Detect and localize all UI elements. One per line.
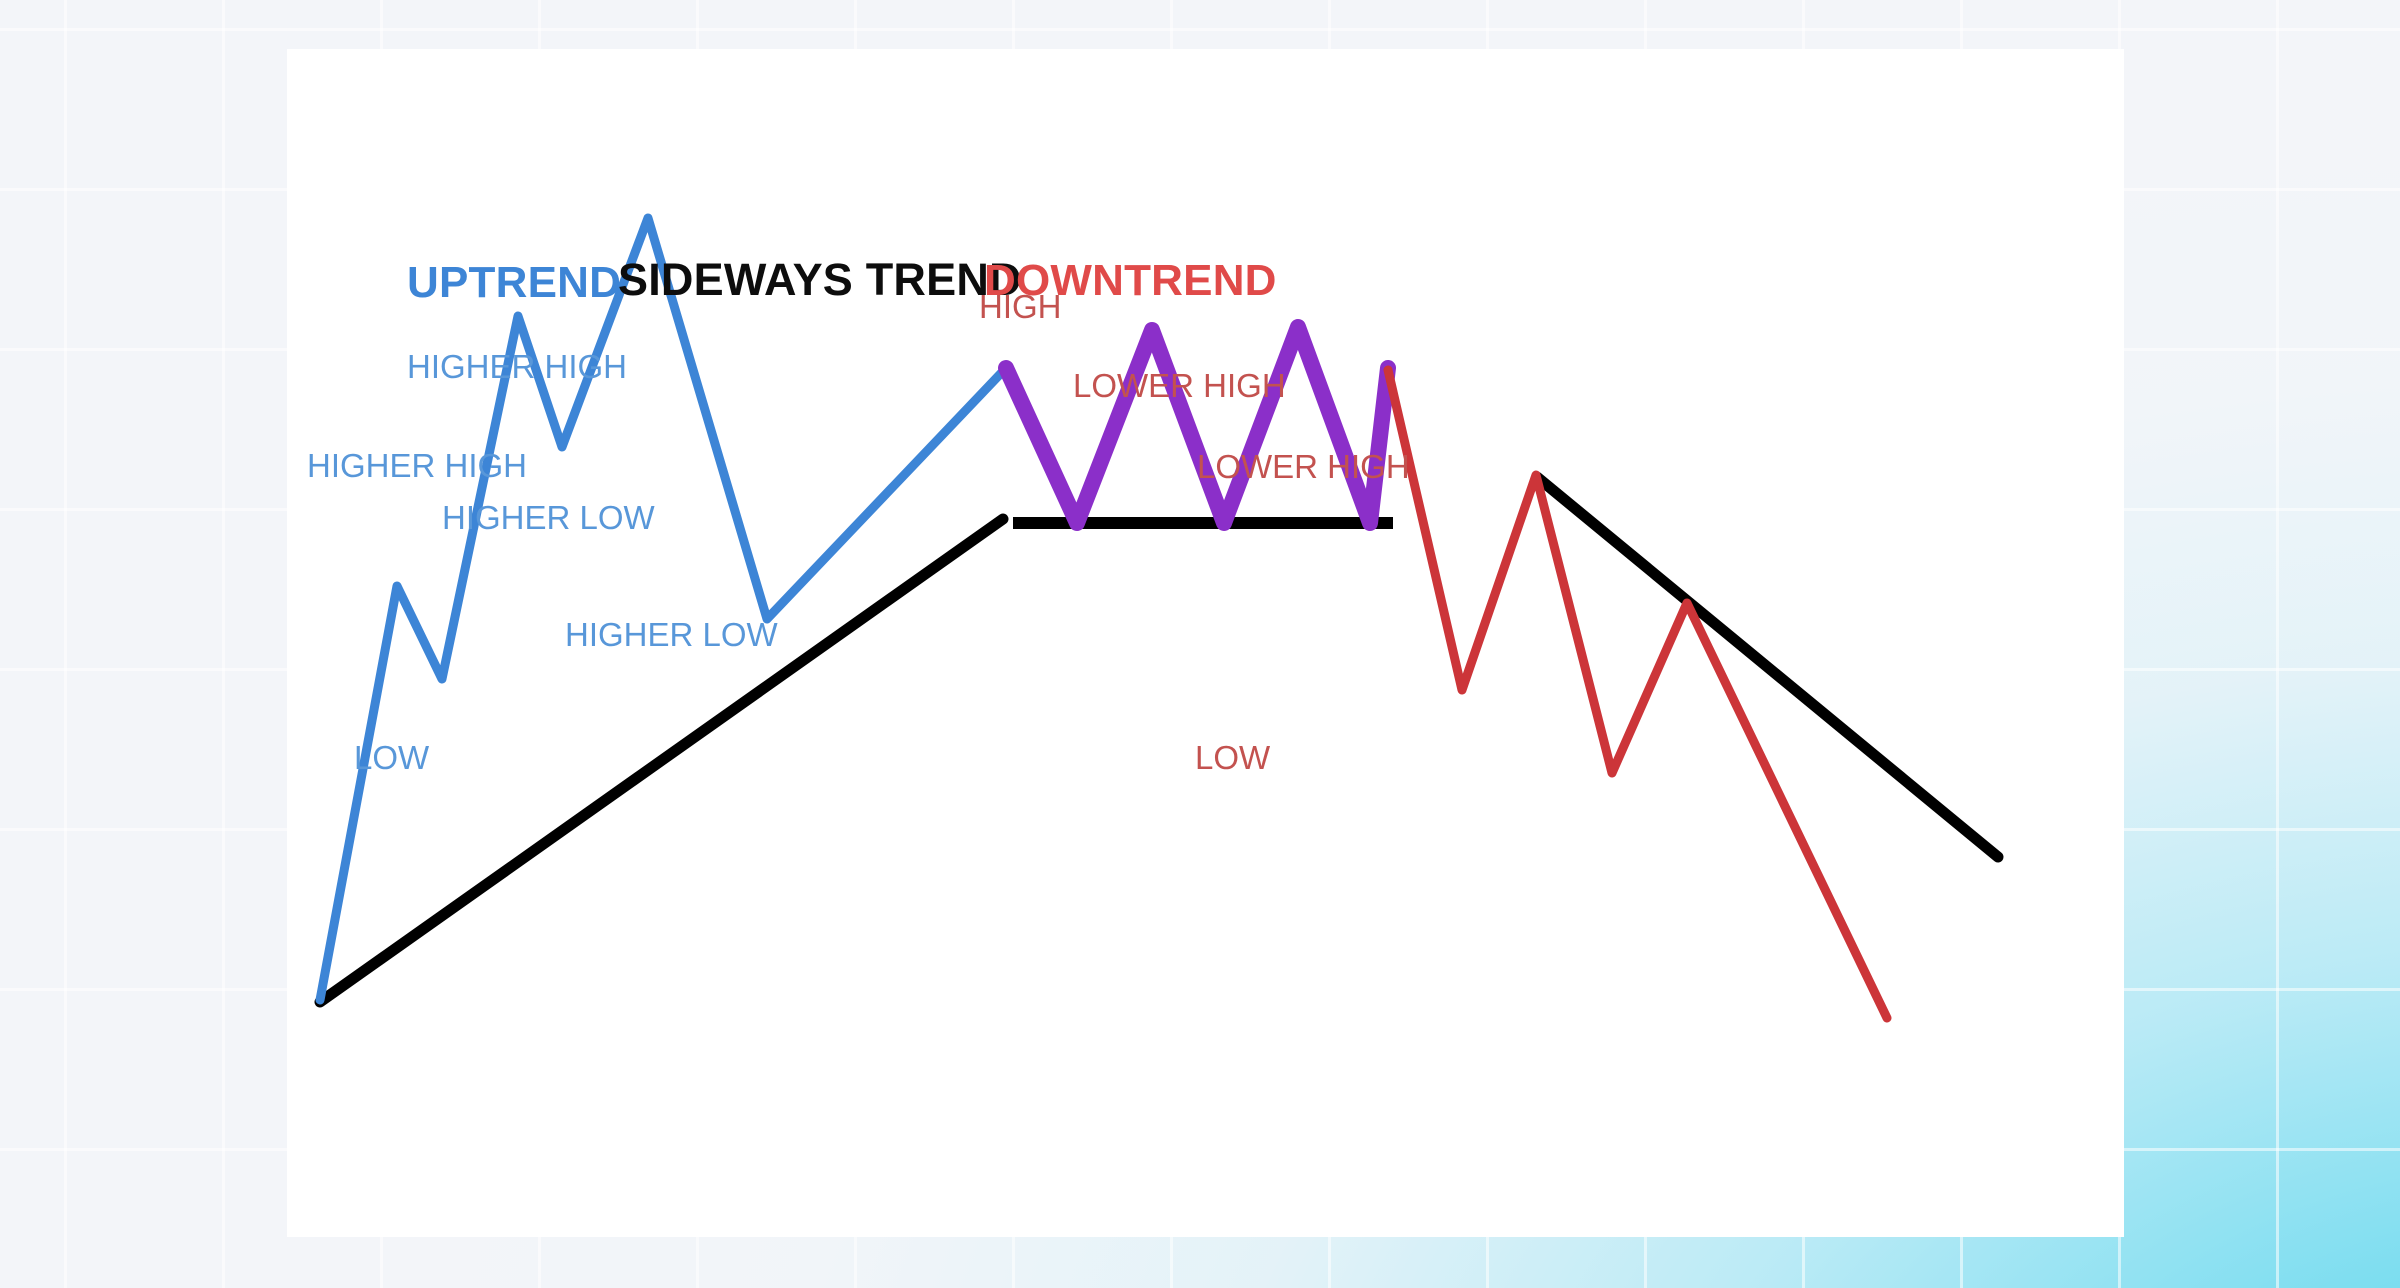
header-uptrend: UPTREND — [407, 261, 621, 305]
annotation-lower-high-upper: LOWER HIGH — [1073, 369, 1286, 402]
trend-chart-graphic — [287, 49, 2124, 1237]
chart-card: UPTREND SIDEWAYS TREND DOWNTREND HIGHER … — [287, 49, 2124, 1237]
annotation-higher-low-lower: HIGHER LOW — [442, 501, 655, 534]
header-sideways-trend: SIDEWAYS TREND — [618, 257, 1022, 302]
sideways-price-line — [1006, 327, 1388, 523]
annotation-low-left: LOW — [354, 741, 429, 774]
annotation-high-right: HIGH — [979, 290, 1062, 323]
annotation-higher-high-upper: HIGHER HIGH — [407, 350, 627, 383]
annotation-lower-high-lower: LOWER HIGH — [1197, 450, 1410, 483]
annotation-higher-high-lower: HIGHER HIGH — [307, 449, 527, 482]
uptrend-price-line — [320, 218, 1006, 1000]
annotation-higher-low-upper: HIGHER LOW — [565, 618, 778, 651]
downtrend-resistance-trendline — [1537, 477, 1998, 857]
screenshot-canvas: UPTREND SIDEWAYS TREND DOWNTREND HIGHER … — [0, 0, 2400, 1288]
annotation-low-right: LOW — [1195, 741, 1270, 774]
downtrend-price-line — [1388, 370, 1887, 1018]
